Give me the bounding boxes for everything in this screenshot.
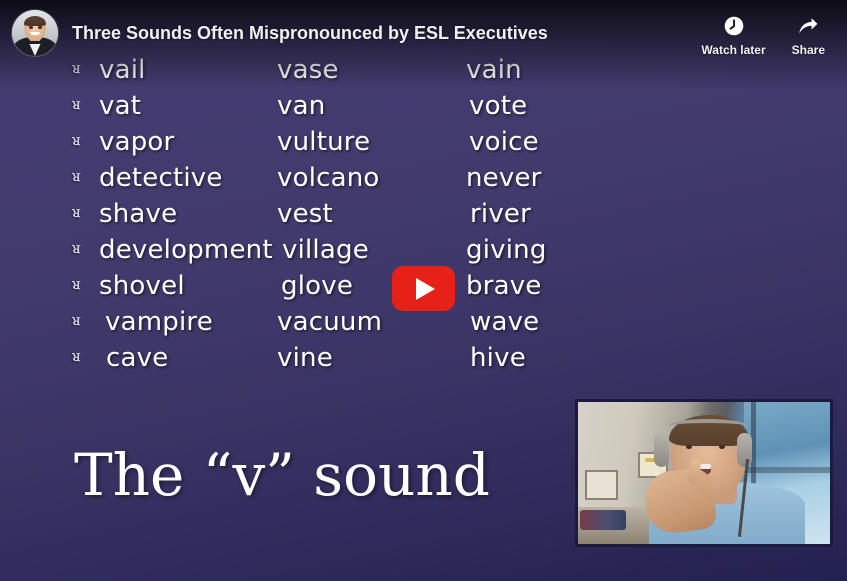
word-row: ʁ vapor vulture voice — [0, 127, 847, 163]
clock-icon — [722, 14, 746, 38]
webcam-person-eye — [719, 445, 725, 449]
word-cell: vine — [277, 343, 333, 373]
word-cell: village — [282, 235, 369, 265]
webcam-person-eyebrow — [681, 439, 692, 442]
webcam-person-eyebrow — [714, 439, 725, 442]
word-cell: hive — [470, 343, 526, 373]
player-top-bar: Three Sounds Often Mispronounced by ESL … — [0, 0, 847, 66]
word-cell: vat — [99, 91, 141, 121]
play-button[interactable] — [392, 266, 455, 311]
bullet-icon: ʁ — [72, 167, 81, 185]
share-button[interactable]: Share — [792, 14, 825, 57]
word-cell: shovel — [99, 271, 185, 301]
word-row: ʁ detective volcano never — [0, 163, 847, 199]
avatar-smile — [30, 32, 39, 35]
word-cell: detective — [99, 163, 223, 193]
word-cell: giving — [466, 235, 547, 265]
share-label: Share — [792, 43, 825, 57]
word-cell: voice — [469, 127, 539, 157]
word-cell: vacuum — [277, 307, 382, 337]
word-cell: vampire — [105, 307, 213, 337]
word-cell: van — [277, 91, 325, 121]
word-cell: never — [466, 163, 542, 193]
play-triangle-icon — [416, 278, 435, 300]
word-cell: vapor — [99, 127, 174, 157]
youtube-video-player[interactable]: ʁ vail vase vain ʁ vat van vote ʁ vapor … — [0, 0, 847, 581]
bullet-icon: ʁ — [72, 95, 81, 113]
word-cell: river — [470, 199, 531, 229]
word-row: ʁ vat van vote — [0, 91, 847, 127]
headphones-band-icon — [669, 419, 747, 433]
bullet-icon: ʁ — [72, 131, 81, 149]
word-cell: volcano — [277, 163, 380, 193]
word-cell: development — [99, 235, 273, 265]
video-title[interactable]: Three Sounds Often Mispronounced by ESL … — [58, 10, 701, 44]
avatar-eye — [29, 26, 33, 29]
word-cell: shave — [99, 199, 177, 229]
webcam-picture-frame — [585, 470, 618, 500]
avatar[interactable] — [12, 10, 58, 56]
bullet-icon: ʁ — [72, 239, 81, 257]
word-row: ʁ shave vest river — [0, 199, 847, 235]
share-arrow-icon — [796, 14, 820, 38]
watch-later-label: Watch later — [701, 43, 765, 57]
bullet-icon: ʁ — [72, 203, 81, 221]
word-cell: cave — [106, 343, 168, 373]
word-cell: vest — [277, 199, 333, 229]
word-cell: brave — [466, 271, 542, 301]
word-row: ʁ vampire vacuum wave — [0, 307, 847, 343]
word-row: ʁ cave vine hive — [0, 343, 847, 379]
watch-later-button[interactable]: Watch later — [701, 14, 765, 57]
word-cell: vote — [469, 91, 527, 121]
bullet-icon: ʁ — [72, 347, 81, 365]
word-cell: wave — [470, 307, 539, 337]
webcam-cloth — [580, 510, 626, 530]
bullet-icon: ʁ — [72, 311, 81, 329]
bullet-icon: ʁ — [72, 275, 81, 293]
headphone-earcup-icon — [654, 433, 669, 467]
presenter-webcam-overlay — [575, 399, 833, 547]
avatar-eye — [38, 26, 42, 29]
word-cell: glove — [281, 271, 353, 301]
webcam-person-eye — [686, 445, 692, 449]
slide-heading: The “v” sound — [74, 440, 490, 510]
player-actions: Watch later Share — [701, 10, 835, 57]
word-list-grid: ʁ vail vase vain ʁ vat van vote ʁ vapor … — [0, 55, 847, 379]
word-cell: vulture — [277, 127, 370, 157]
headphone-earcup-icon — [737, 433, 752, 467]
